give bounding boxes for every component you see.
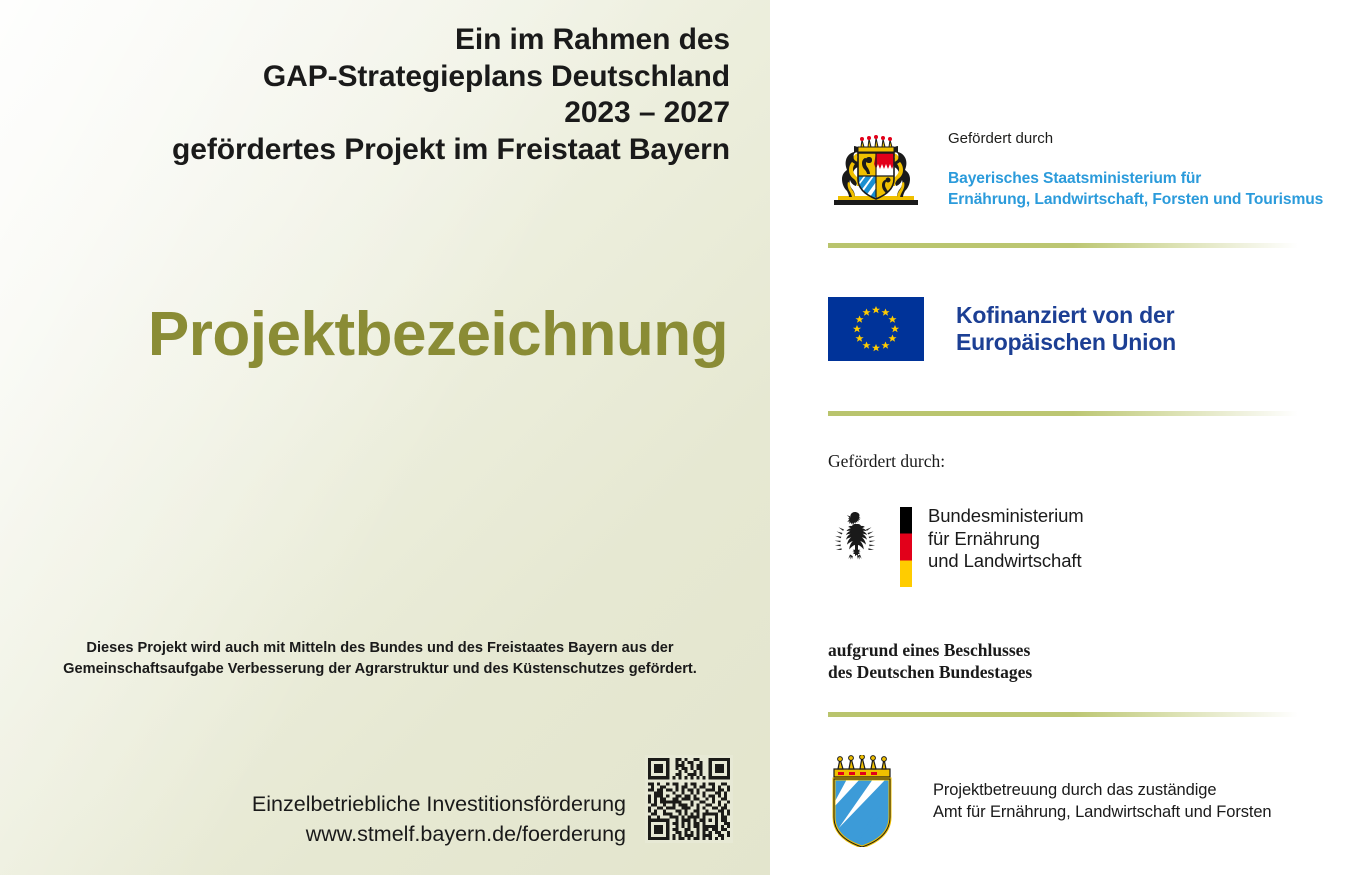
- bmel-logo-block: Gefördert durch:: [828, 450, 1308, 683]
- kicker-line-3: 2023 – 2027: [0, 95, 730, 132]
- bmel-funded-by-label: Gefördert durch:: [828, 450, 1308, 472]
- bundestag-note-line-1: aufgrund eines Beschlusses: [828, 639, 1308, 661]
- programme-footer: Einzelbetriebliche Investitionsförderung…: [0, 745, 748, 860]
- stmelf-ministry-name: Bayerisches Staatsministerium für Ernähr…: [948, 168, 1323, 210]
- kicker-line-2: GAP-Strategieplans Deutschland: [0, 59, 730, 96]
- aelf-supervision-text: Projektbetreuung durch das zuständige Am…: [933, 779, 1272, 823]
- bavarian-lozenge-shield-icon: [828, 755, 896, 847]
- stmelf-logo-block: Gefördert durch Bayerisches Staatsminist…: [828, 130, 1323, 210]
- bundestag-note-line-2: des Deutschen Bundestages: [828, 661, 1308, 683]
- bundestag-resolution-note: aufgrund eines Beschlusses des Deutschen…: [828, 639, 1308, 683]
- aelf-text-line-2: Amt für Ernährung, Landwirtschaft und Fo…: [933, 801, 1272, 823]
- eu-text-line-1: Kofinanziert von der: [956, 302, 1176, 330]
- eu-text-line-2: Europäischen Union: [956, 329, 1176, 357]
- german-flag-bar-icon: [900, 507, 912, 587]
- federal-eagle-icon: [828, 509, 882, 565]
- gak-note-line-1: Dieses Projekt wird auch mit Mitteln des…: [24, 638, 736, 659]
- divider-2: [828, 411, 1298, 416]
- right-panel: Gefördert durch Bayerisches Staatsminist…: [770, 0, 1352, 875]
- bmel-ministry-name: Bundesministerium für Ernährung und Land…: [928, 505, 1084, 573]
- bavarian-state-coat-of-arms-icon: [828, 134, 924, 208]
- eu-logo-block: Kofinanziert von der Europäischen Union: [828, 297, 1176, 361]
- kicker-line-1: Ein im Rahmen des: [0, 22, 730, 59]
- bmel-name-line-2: für Ernährung: [928, 528, 1084, 551]
- programme-website[interactable]: www.stmelf.bayern.de/foerderung: [66, 819, 626, 849]
- divider-3: [828, 712, 1298, 717]
- kicker-line-4: gefördertes Projekt im Freistaat Bayern: [0, 132, 730, 169]
- bmel-name-line-1: Bundesministerium: [928, 505, 1084, 528]
- funding-kicker: Ein im Rahmen des GAP-Strategieplans Deu…: [0, 22, 730, 168]
- gak-funding-note: Dieses Projekt wird auch mit Mitteln des…: [24, 638, 736, 680]
- poster: Ein im Rahmen des GAP-Strategieplans Deu…: [0, 0, 1352, 875]
- bmel-name-line-3: und Landwirtschaft: [928, 550, 1084, 573]
- project-title: Projektbezeichnung: [0, 300, 728, 370]
- stmelf-name-line-2: Ernährung, Landwirtschaft, Forsten und T…: [948, 189, 1323, 210]
- stmelf-name-line-1: Bayerisches Staatsministerium für: [948, 168, 1323, 189]
- stmelf-funded-by-label: Gefördert durch: [948, 130, 1323, 148]
- aelf-text-line-1: Projektbetreuung durch das zuständige: [933, 779, 1272, 801]
- qr-code-icon[interactable]: [645, 755, 733, 843]
- gak-note-line-2: Gemeinschaftsaufgabe Verbesserung der Ag…: [24, 659, 736, 680]
- eu-cofunding-text: Kofinanziert von der Europäischen Union: [956, 302, 1176, 357]
- programme-label: Einzelbetriebliche Investitionsförderung: [66, 789, 626, 819]
- left-panel: Ein im Rahmen des GAP-Strategieplans Deu…: [0, 0, 770, 875]
- programme-footer-text: Einzelbetriebliche Investitionsförderung…: [66, 789, 626, 849]
- divider-1: [828, 243, 1298, 248]
- european-union-flag-icon: [828, 297, 924, 361]
- aelf-logo-block: Projektbetreuung durch das zuständige Am…: [828, 755, 1272, 847]
